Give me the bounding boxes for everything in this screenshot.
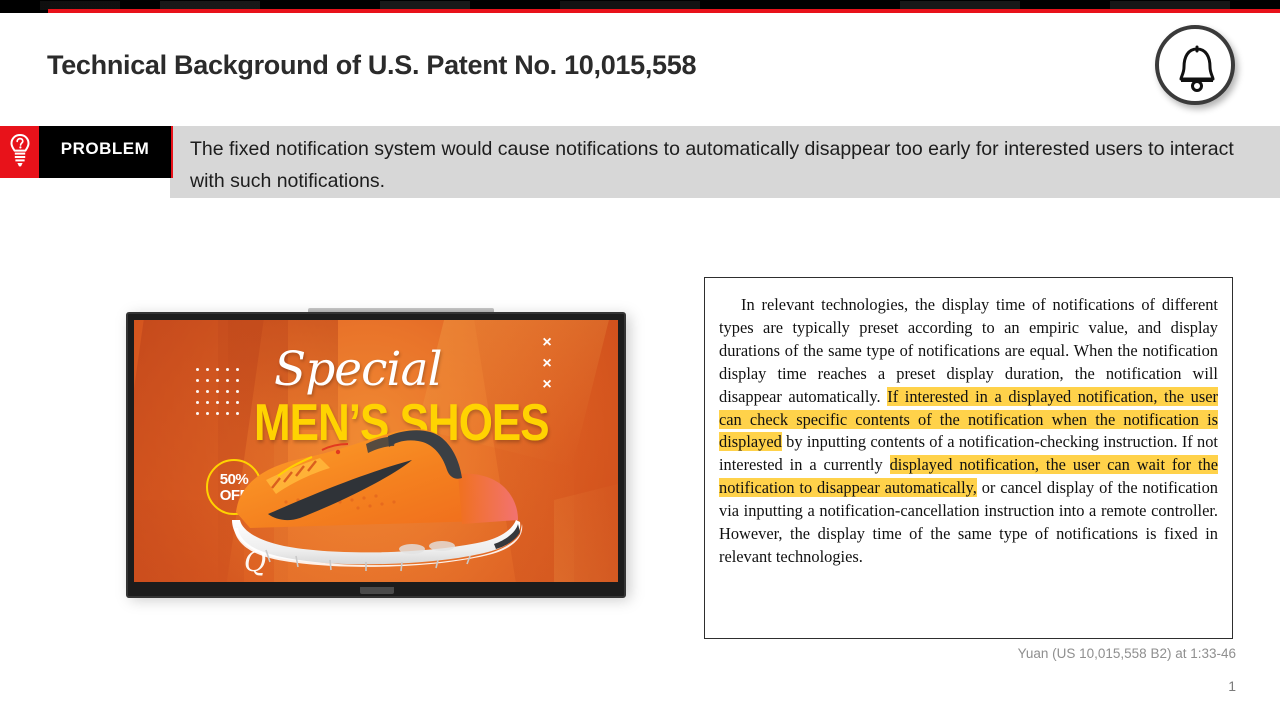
top-chrome-strip	[0, 0, 1280, 13]
problem-banner: PROBLEM The fixed notification system wo…	[0, 126, 1280, 198]
close-icon: ×	[540, 353, 554, 374]
lightbulb-question-icon	[0, 126, 39, 178]
television-illustration: × × × Special MEN’S SHOES 50% OFF	[126, 303, 626, 598]
close-icon: ×	[540, 374, 554, 395]
patent-excerpt-box: In relevant technologies, the display ti…	[704, 277, 1233, 639]
close-icon: ×	[540, 332, 554, 353]
page-title: Technical Background of U.S. Patent No. …	[47, 50, 696, 81]
close-marks: × × ×	[540, 332, 554, 395]
bell-icon	[1155, 25, 1235, 105]
ad-logo: Q	[244, 547, 266, 578]
running-shoe-image	[226, 416, 556, 581]
dot-grid-decoration	[196, 368, 246, 423]
tv-screen: × × × Special MEN’S SHOES 50% OFF	[134, 320, 618, 582]
tv-stand-foot	[360, 587, 394, 594]
problem-label: PROBLEM	[52, 139, 158, 159]
red-accent-rule	[48, 9, 1280, 13]
ad-script-word: Special	[274, 342, 442, 397]
page-number: 1	[1228, 678, 1236, 694]
tv-bezel: × × × Special MEN’S SHOES 50% OFF	[126, 312, 626, 598]
patent-excerpt-text: In relevant technologies, the display ti…	[719, 294, 1218, 569]
slide-root: Technical Background of U.S. Patent No. …	[0, 0, 1280, 720]
citation: Yuan (US 10,015,558 B2) at 1:33-46	[1018, 646, 1236, 661]
problem-statement: The fixed notification system would caus…	[190, 133, 1250, 197]
